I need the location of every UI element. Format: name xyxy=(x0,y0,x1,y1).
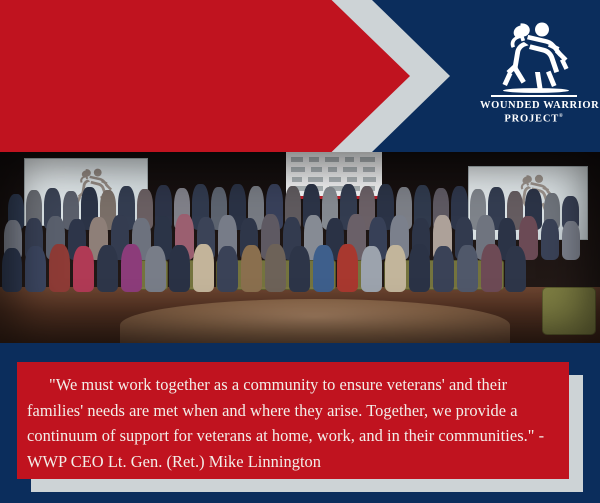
logo-text-line2: PROJECT® xyxy=(480,111,588,126)
header-banner: WOUNDED WARRIOR PROJECT® xyxy=(0,0,600,152)
red-chevron-shape xyxy=(0,0,410,152)
logo-divider-rule xyxy=(491,95,577,97)
quote-text: "We must work together as a community to… xyxy=(27,372,561,474)
wounded-warrior-carry-silhouette-icon xyxy=(480,16,588,94)
patterned-carpet xyxy=(120,299,510,343)
crowd-of-attendees xyxy=(0,184,600,300)
quote-section: "We must work together as a community to… xyxy=(0,343,600,503)
logo-text-line1: WOUNDED WARRIOR xyxy=(480,100,588,111)
registered-trademark-mark: ® xyxy=(559,114,564,119)
wounded-warrior-project-logo: WOUNDED WARRIOR PROJECT® xyxy=(480,16,588,136)
quote-card: "We must work together as a community to… xyxy=(17,362,569,479)
logo-text-project: PROJECT xyxy=(504,114,559,125)
group-photo xyxy=(0,152,600,343)
promotional-graphic: WOUNDED WARRIOR PROJECT® xyxy=(0,0,600,503)
